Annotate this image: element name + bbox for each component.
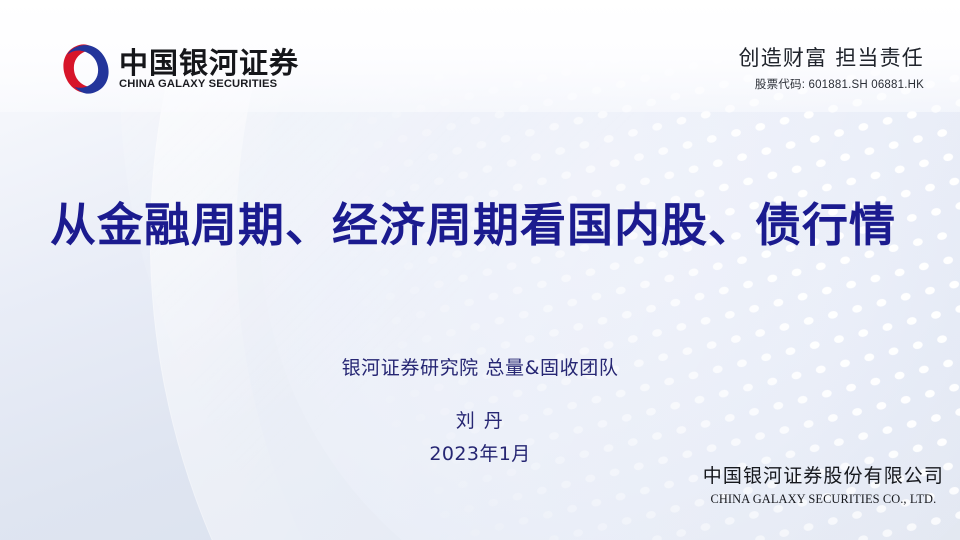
brand-logo-wordmark: 中国银河证券 CHINA GALAXY SECURITIES [119,48,299,91]
corporate-slogan-block: 创造财富 担当责任 股票代码: 601881.SH 06881.HK [739,45,924,92]
slide-title: 从金融周期、经济周期看国内股、债行情 [50,198,920,252]
stock-code-label: 股票代码: 601881.SH 06881.HK [739,76,924,92]
brand-logo[interactable]: 中国银河证券 CHINA GALAXY SECURITIES [62,41,299,97]
footer-company-block: 中国银河证券股份有限公司 CHINA GALAXY SECURITIES CO.… [703,465,944,507]
presentation-slide: 中国银河证券 CHINA GALAXY SECURITIES 创造财富 担当责任… [0,0,960,540]
brand-name-cn: 中国银河证券 [119,48,299,78]
corporate-slogan: 创造财富 担当责任 [739,45,924,71]
slide-subtitle-block: 银河证券研究院 总量&固收团队 刘 丹 2023年1月 [0,356,960,467]
author-name: 刘 丹 [0,409,960,434]
galaxy-swirl-logo-icon [62,41,110,97]
presentation-date: 2023年1月 [0,442,960,467]
brand-name-en: CHINA GALAXY SECURITIES [119,79,299,90]
research-team-label: 银河证券研究院 总量&固收团队 [0,356,960,381]
footer-company-cn: 中国银河证券股份有限公司 [703,465,944,489]
footer-company-en: CHINA GALAXY SECURITIES CO., LTD. [703,492,944,507]
